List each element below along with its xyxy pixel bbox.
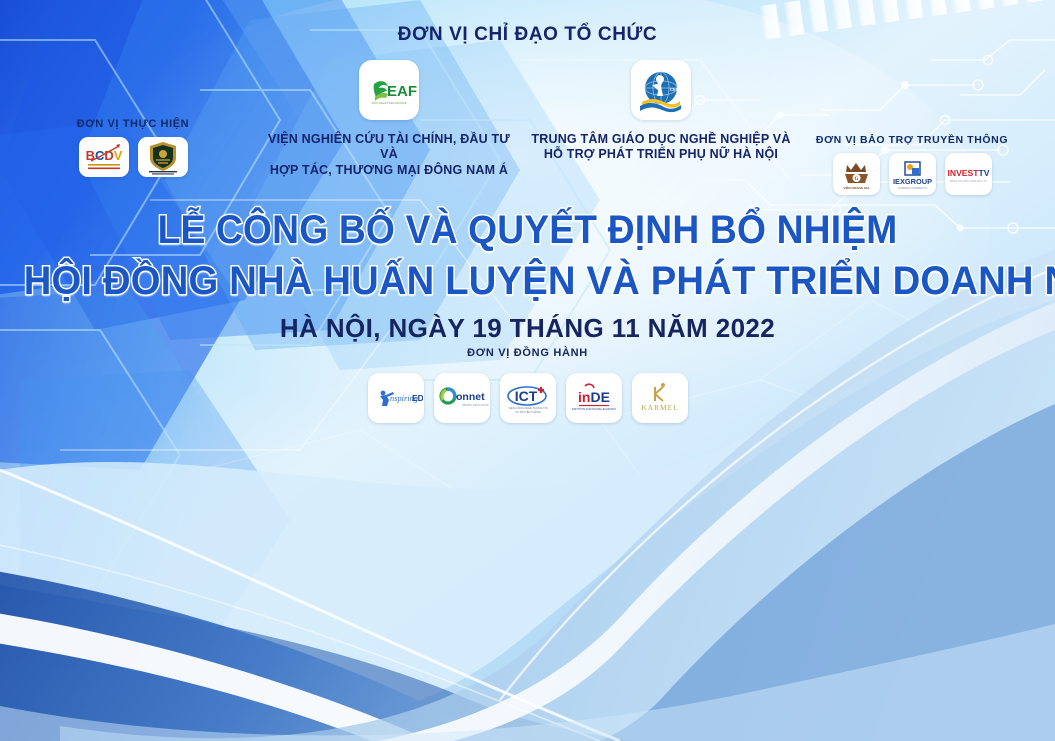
invest-tv-logo: INVESTTV KÊNH TRUYỀN HÌNH ĐẦU TƯ (945, 153, 992, 195)
onnet-logo: onnet SMART EDUCATION (434, 373, 490, 423)
inspiring-edu-logo: nspiring EDU (368, 373, 424, 423)
svg-text:CEWDS: CEWDS (670, 87, 686, 92)
bcdv-logo: BCDV (79, 137, 129, 177)
seafit-caption-line2: HỢP TÁC, THƯƠNG MẠI ĐÔNG NAM Á (258, 163, 520, 178)
cewds-caption-line2: HỖ TRỢ PHÁT TRIỂN PHỤ NỮ HÀ NỘI (530, 147, 792, 162)
directing-unit-label: ĐƠN VỊ CHỈ ĐẠO TỔ CHỨC (0, 24, 1055, 46)
svg-text:EDU: EDU (412, 393, 423, 403)
event-poster: ĐƠN VỊ CHỈ ĐẠO TỔ CHỨC EAFIT SOUTH EAST … (0, 0, 1055, 741)
svg-text:G: G (854, 177, 858, 182)
executing-unit-label: ĐƠN VỊ THỰC HIỆN (38, 118, 228, 130)
media-sponsor-block: ĐƠN VỊ BẢO TRỢ TRUYỀN THÔNG G VIỆN HOÀNG… (812, 134, 1012, 195)
headline-line-2: HỘI ĐỒNG NHÀ HUẤN LUYỆN VÀ PHÁT TRIỂN DO… (24, 259, 1032, 304)
headline: LỄ CÔNG BỐ VÀ QUYẾT ĐỊNH BỔ NHIỆM HỘI ĐỒ… (0, 208, 1055, 304)
cewds-logo-row: CEWDS (530, 60, 792, 120)
executing-unit-logo-row: BCDV (38, 137, 228, 177)
event-date: HÀ NỘI, NGÀY 19 THÁNG 11 NĂM 2022 (0, 313, 1055, 344)
svg-text:IEXGROUP: IEXGROUP (892, 177, 931, 186)
org-cewds: CEWDS TRUNG TÂM GIÁO DỤC NGHỀ NGHIỆP VÀ … (530, 60, 792, 163)
iex-group-logo: IEXGROUP STRONG CONNECTS (889, 153, 936, 195)
svg-text:INVESTTV: INVESTTV (947, 168, 989, 178)
companion-logo-row: nspiring EDU onnet SMART EDUCATION (0, 373, 1055, 423)
cewds-caption-line1: TRUNG TÂM GIÁO DỤC NGHỀ NGHIỆP VÀ (530, 132, 792, 147)
executing-unit-block: ĐƠN VỊ THỰC HIỆN BCDV (38, 118, 228, 177)
svg-text:VIỆN HOÀNG GIA: VIỆN HOÀNG GIA (843, 185, 870, 190)
karmel-logo: KARMEL (632, 373, 688, 423)
media-sponsor-label: ĐƠN VỊ BẢO TRỢ TRUYỀN THÔNG (812, 134, 1012, 146)
media-sponsor-logo-row: G VIỆN HOÀNG GIA IEXGROUP STRONG CONNECT… (812, 153, 1012, 195)
svg-text:inDE: inDE (578, 389, 610, 405)
seafit-caption-line1: VIỆN NGHIÊN CỨU TÀI CHÍNH, ĐẦU TƯ VÀ (258, 132, 520, 163)
headline-line-1: LỄ CÔNG BỐ VÀ QUYẾT ĐỊNH BỔ NHIỆM (37, 208, 1018, 253)
seafit-logo-row: EAFIT SOUTH EAST ASIA FINANCE (258, 60, 520, 120)
vien-hoang-gia-logo: G VIỆN HOÀNG GIA (833, 153, 880, 195)
cewds-logo: CEWDS (631, 60, 691, 120)
svg-text:SMART EDUCATION: SMART EDUCATION (462, 403, 489, 407)
svg-text:INSTITUTE FOR DIGITAL ECONOMY: INSTITUTE FOR DIGITAL ECONOMY (571, 407, 616, 411)
svg-text:STRONG CONNECTS: STRONG CONNECTS (898, 186, 927, 190)
seafit-caption: VIỆN NGHIÊN CỨU TÀI CHÍNH, ĐẦU TƯ VÀ HỢP… (258, 132, 520, 178)
svg-text:onnet: onnet (456, 391, 485, 403)
svg-text:SOUTH EAST ASIA FINANCE: SOUTH EAST ASIA FINANCE (372, 101, 407, 105)
ict-plus-logo: ICT VIỆN CÔNG NGHỆ THÔNG TIN VÀ TRUYỀN T… (500, 373, 556, 423)
companion-label: ĐƠN VỊ ĐỒNG HÀNH (0, 347, 1055, 359)
shield-academy-logo (138, 137, 188, 177)
seafit-logo: EAFIT SOUTH EAST ASIA FINANCE (359, 60, 419, 120)
svg-text:ICT: ICT (514, 388, 537, 404)
svg-text:KARMEL: KARMEL (641, 403, 678, 412)
org-seafit: EAFIT SOUTH EAST ASIA FINANCE VIỆN NGHIÊ… (258, 60, 520, 178)
svg-text:EAFIT: EAFIT (387, 83, 418, 100)
inde-logo: inDE INSTITUTE FOR DIGITAL ECONOMY (566, 373, 622, 423)
cewds-caption: TRUNG TÂM GIÁO DỤC NGHỀ NGHIỆP VÀ HỖ TRỢ… (530, 132, 792, 163)
